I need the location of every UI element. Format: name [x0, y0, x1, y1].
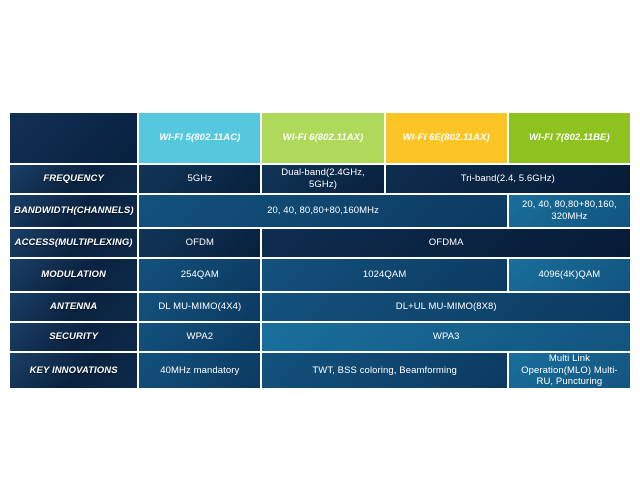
cell-access-wifi5: OFDM	[139, 229, 260, 257]
table-header: WI-FI 5(802.11AC) WI-FI 6(802.11AX) WI-F…	[10, 113, 630, 163]
screenshot-canvas: WI-FI 5(802.11AC) WI-FI 6(802.11AX) WI-F…	[0, 0, 640, 480]
table-row: MODULATION 254QAM 1024QAM 4096(4K)QAM	[10, 259, 630, 291]
cell-innovations-wifi7: Multi Link Operation(MLO) Multi-RU, Punc…	[509, 353, 630, 388]
row-label-bandwidth-channels: BANDWIDTH(CHANNELS)	[10, 195, 137, 227]
cell-modulation-wifi6-wifi6e: 1024QAM	[262, 259, 506, 291]
cell-access-wifi6-wifi7: OFDMA	[262, 229, 630, 257]
row-label-antenna: ANTENNA	[10, 293, 137, 321]
column-header-wifi6e: WI-FI 6E(802.11AX)	[386, 113, 507, 163]
cell-frequency-wifi6e-wifi7: Tri-band(2.4, 5.6GHz)	[386, 165, 630, 193]
table-row: ANTENNA DL MU-MIMO(4X4) DL+UL MU-MIMO(8X…	[10, 293, 630, 321]
table-row: SECURITY WPA2 WPA3	[10, 323, 630, 351]
column-header-wifi6: WI-FI 6(802.11AX)	[262, 113, 383, 163]
cell-security-wifi6-wifi7: WPA3	[262, 323, 630, 351]
row-label-access-multiplexing: ACCESS(MULTIPLEXING)	[10, 229, 137, 257]
row-label-security: SECURITY	[10, 323, 137, 351]
table-row: BANDWIDTH(CHANNELS) 20, 40, 80,80+80,160…	[10, 195, 630, 227]
cell-bandwidth-wifi5-wifi6e: 20, 40, 80,80+80,160MHz	[139, 195, 507, 227]
cell-security-wifi5: WPA2	[139, 323, 260, 351]
cell-modulation-wifi5: 254QAM	[139, 259, 260, 291]
header-corner-cell	[10, 113, 137, 163]
cell-innovations-wifi5: 40MHz mandatory	[139, 353, 260, 388]
cell-antenna-wifi6-wifi7: DL+UL MU-MIMO(8X8)	[262, 293, 630, 321]
table-row: ACCESS(MULTIPLEXING) OFDM OFDMA	[10, 229, 630, 257]
table-body: FREQUENCY 5GHz Dual-band(2.4GHz, 5GHz) T…	[10, 165, 630, 388]
column-header-wifi5: WI-FI 5(802.11AC)	[139, 113, 260, 163]
cell-modulation-wifi7: 4096(4K)QAM	[509, 259, 630, 291]
cell-frequency-wifi6: Dual-band(2.4GHz, 5GHz)	[262, 165, 383, 193]
header-row: WI-FI 5(802.11AC) WI-FI 6(802.11AX) WI-F…	[10, 113, 630, 163]
cell-innovations-wifi6-wifi6e: TWT, BSS coloring, Beamforming	[262, 353, 506, 388]
cell-frequency-wifi5: 5GHz	[139, 165, 260, 193]
table-row: FREQUENCY 5GHz Dual-band(2.4GHz, 5GHz) T…	[10, 165, 630, 193]
column-header-wifi7: WI-FI 7(802.11BE)	[509, 113, 630, 163]
row-label-modulation: MODULATION	[10, 259, 137, 291]
row-label-key-innovations: KEY INNOVATIONS	[10, 353, 137, 388]
table-row: KEY INNOVATIONS 40MHz mandatory TWT, BSS…	[10, 353, 630, 388]
cell-antenna-wifi5: DL MU-MIMO(4X4)	[139, 293, 260, 321]
row-label-frequency: FREQUENCY	[10, 165, 137, 193]
wifi-generation-comparison-table: WI-FI 5(802.11AC) WI-FI 6(802.11AX) WI-F…	[8, 111, 632, 390]
cell-bandwidth-wifi7: 20, 40, 80,80+80,160, 320MHz	[509, 195, 630, 227]
